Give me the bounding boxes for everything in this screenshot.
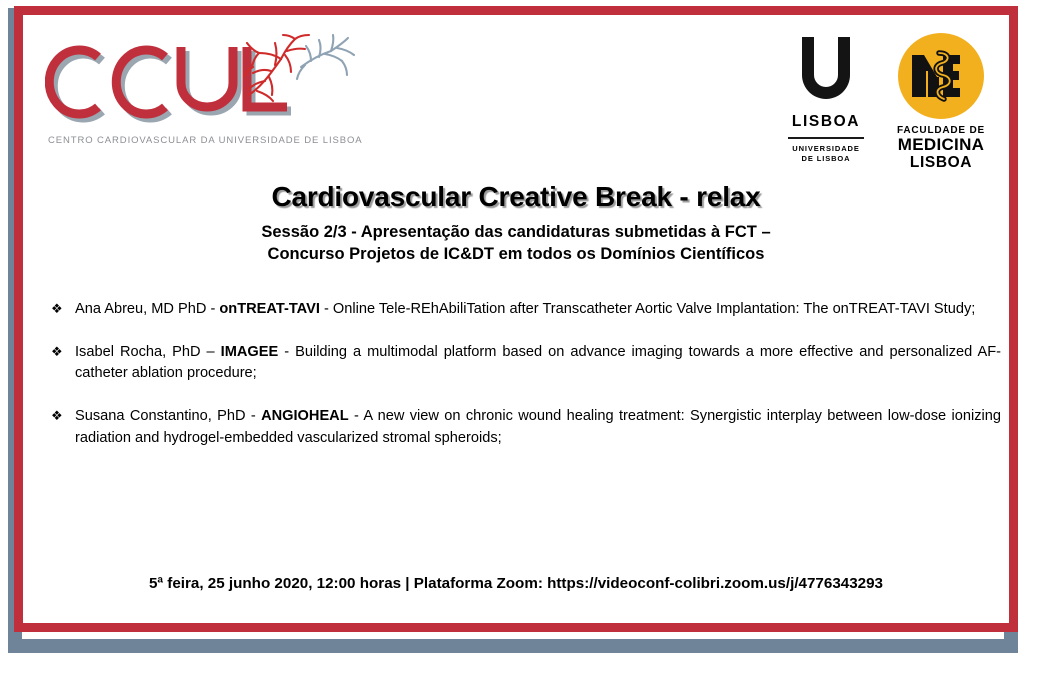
medicina-line3: LISBOA xyxy=(881,154,1001,171)
poster-content: CENTRO CARDIOVASCULAR DA UNIVERSIDADE DE… xyxy=(23,15,1009,623)
medicina-circle xyxy=(898,33,984,119)
poster-slide: CENTRO CARDIOVASCULAR DA UNIVERSIDADE DE… xyxy=(0,0,1040,675)
medicina-line2: MEDICINA xyxy=(881,136,1001,154)
project-description: - Online Tele-REhAbiliTation after Trans… xyxy=(320,301,975,317)
presentations-list: ❖ Ana Abreu, MD PhD - onTREAT-TAVI - Onl… xyxy=(23,299,1009,449)
medicina-logo: FACULDADE DE MEDICINA LISBOA xyxy=(881,33,1001,171)
subtitle-line-2: Concurso Projetos de IC&DT em todos os D… xyxy=(23,244,1009,266)
subtitle: Sessão 2/3 - Apresentação das candidatur… xyxy=(23,222,1009,266)
ccul-logo: CENTRO CARDIOVASCULAR DA UNIVERSIDADE DE… xyxy=(45,37,355,159)
speaker-name: Ana Abreu, MD PhD - xyxy=(75,301,219,317)
speaker-name: Susana Constantino, PhD - xyxy=(75,408,261,424)
ulisboa-u-icon xyxy=(796,35,856,101)
ulisboa-divider xyxy=(788,137,864,139)
diamond-bullet-icon: ❖ xyxy=(51,406,75,426)
ulisboa-sub-line2: DE LISBOA xyxy=(778,154,874,164)
subtitle-line-1: Sessão 2/3 - Apresentação das candidatur… xyxy=(23,222,1009,244)
list-item: ❖ Susana Constantino, PhD - ANGIOHEAL - … xyxy=(51,406,1001,448)
title-block: Cardiovascular Creative Break - relax Se… xyxy=(23,181,1009,266)
diamond-bullet-icon: ❖ xyxy=(51,299,75,319)
ulisboa-sub-line1: UNIVERSIDADE xyxy=(778,144,874,154)
event-details-footer: 5ª feira, 25 junho 2020, 12:00 horas | P… xyxy=(23,575,1009,592)
diamond-bullet-icon: ❖ xyxy=(51,342,75,362)
logo-header: CENTRO CARDIOVASCULAR DA UNIVERSIDADE DE… xyxy=(23,15,1009,165)
speaker-name: Isabel Rocha, PhD – xyxy=(75,344,221,360)
list-item-text: Ana Abreu, MD PhD - onTREAT-TAVI - Onlin… xyxy=(75,299,1001,320)
list-item-text: Susana Constantino, PhD - ANGIOHEAL - A … xyxy=(75,406,1001,448)
list-item-text: Isabel Rocha, PhD – IMAGEE - Building a … xyxy=(75,342,1001,384)
medicina-m-serpent-icon xyxy=(898,33,984,119)
project-acronym: ANGIOHEAL xyxy=(261,408,349,424)
frame-shadow-bottom xyxy=(8,639,1018,653)
list-item: ❖ Isabel Rocha, PhD – IMAGEE - Building … xyxy=(51,342,1001,384)
list-item: ❖ Ana Abreu, MD PhD - onTREAT-TAVI - Onl… xyxy=(51,299,1001,320)
project-acronym: IMAGEE xyxy=(221,344,279,360)
page-title: Cardiovascular Creative Break - relax xyxy=(23,181,1009,213)
ulisboa-name: LISBOA xyxy=(778,113,874,131)
vascular-tree-icon xyxy=(241,33,361,113)
ulisboa-logo: LISBOA UNIVERSIDADE DE LISBOA xyxy=(778,35,874,164)
project-acronym: onTREAT-TAVI xyxy=(219,301,320,317)
ccul-tagline: CENTRO CARDIOVASCULAR DA UNIVERSIDADE DE… xyxy=(48,135,363,146)
